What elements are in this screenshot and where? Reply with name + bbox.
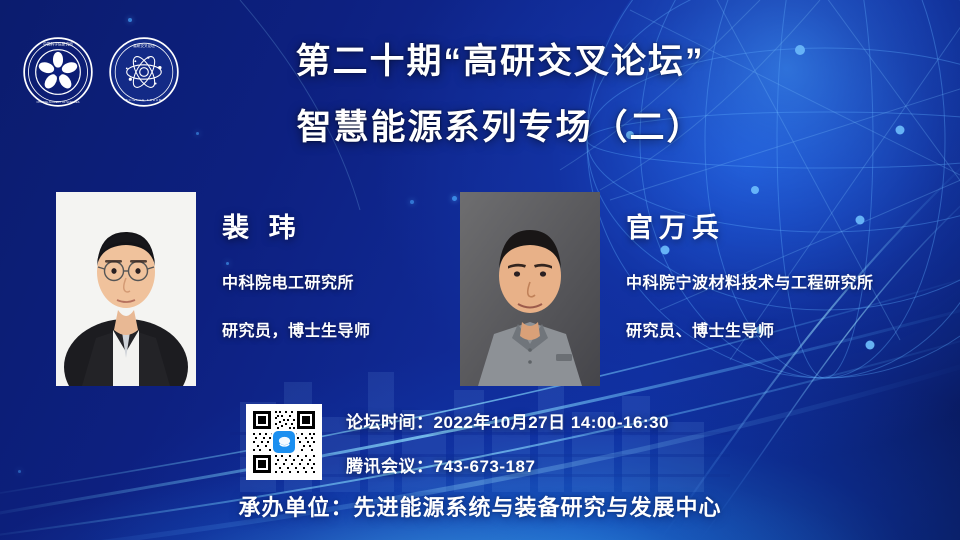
- speaker-affiliation: 中科院宁波材料技术与工程研究所: [626, 269, 874, 293]
- speaker-card: 裴 玮 中科院电工研究所 研究员，博士生导师: [56, 192, 371, 386]
- speaker-affiliation: 中科院电工研究所: [222, 269, 371, 293]
- speaker-role: 研究员，博士生导师: [222, 317, 371, 341]
- tencent-meeting-qr-code[interactable]: [246, 404, 322, 480]
- logo-group: 中国科学院研究所 CHINESE ACADEMY OF SCIENCES 高研交…: [22, 36, 180, 108]
- particle-dot: [196, 132, 199, 135]
- meeting-text-lines: 论坛时间：2022年10月27日 14:00-16:30 腾讯会议：743-67…: [346, 404, 669, 477]
- speaker-text: 官万兵 中科院宁波材料技术与工程研究所 研究员、博士生导师: [626, 192, 874, 341]
- particle-dot: [18, 470, 21, 473]
- speaker-photo: [460, 192, 600, 386]
- meeting-glyph-icon: [277, 435, 292, 450]
- meeting-info: 论坛时间：2022年10月27日 14:00-16:30 腾讯会议：743-67…: [246, 404, 669, 480]
- meeting-id-line: 腾讯会议：743-673-187: [346, 452, 669, 477]
- svg-text:SCIENCE FORUM: SCIENCE FORUM: [126, 98, 163, 102]
- cas-institute-emblem-icon: 中国科学院研究所 CHINESE ACADEMY OF SCIENCES: [22, 36, 94, 108]
- speaker-text: 裴 玮 中科院电工研究所 研究员，博士生导师: [222, 192, 371, 341]
- science-forum-emblem-icon: 高研交叉论坛 SCIENCE FORUM: [108, 36, 180, 108]
- event-poster: 中国科学院研究所 CHINESE ACADEMY OF SCIENCES 高研交…: [0, 0, 960, 540]
- tencent-meeting-logo-icon: [273, 431, 295, 453]
- particle-dot: [128, 18, 132, 22]
- poster-title-line2: 智慧能源系列专场（二）: [200, 106, 800, 150]
- svg-text:高研交叉论坛: 高研交叉论坛: [133, 43, 155, 48]
- speaker-card: 官万兵 中科院宁波材料技术与工程研究所 研究员、博士生导师: [460, 192, 874, 386]
- speaker-name: 裴 玮: [222, 206, 371, 245]
- speaker-role: 研究员、博士生导师: [626, 317, 874, 341]
- speaker-name: 官万兵: [626, 206, 874, 245]
- speaker-section: 裴 玮 中科院电工研究所 研究员，博士生导师: [0, 192, 960, 392]
- organizer-footer: 承办单位：先进能源系统与装备研究与发展中心: [0, 490, 960, 522]
- svg-text:CHINESE ACADEMY OF SCIENCES: CHINESE ACADEMY OF SCIENCES: [37, 100, 80, 104]
- poster-title-line1: 第二十期“高研交叉论坛”: [200, 40, 800, 84]
- speaker-photo: [56, 192, 196, 386]
- svg-text:中国科学院研究所: 中国科学院研究所: [43, 41, 73, 46]
- title-block: 第二十期“高研交叉论坛” 智慧能源系列专场（二）: [200, 40, 800, 150]
- forum-time-line: 论坛时间：2022年10月27日 14:00-16:30: [346, 408, 669, 433]
